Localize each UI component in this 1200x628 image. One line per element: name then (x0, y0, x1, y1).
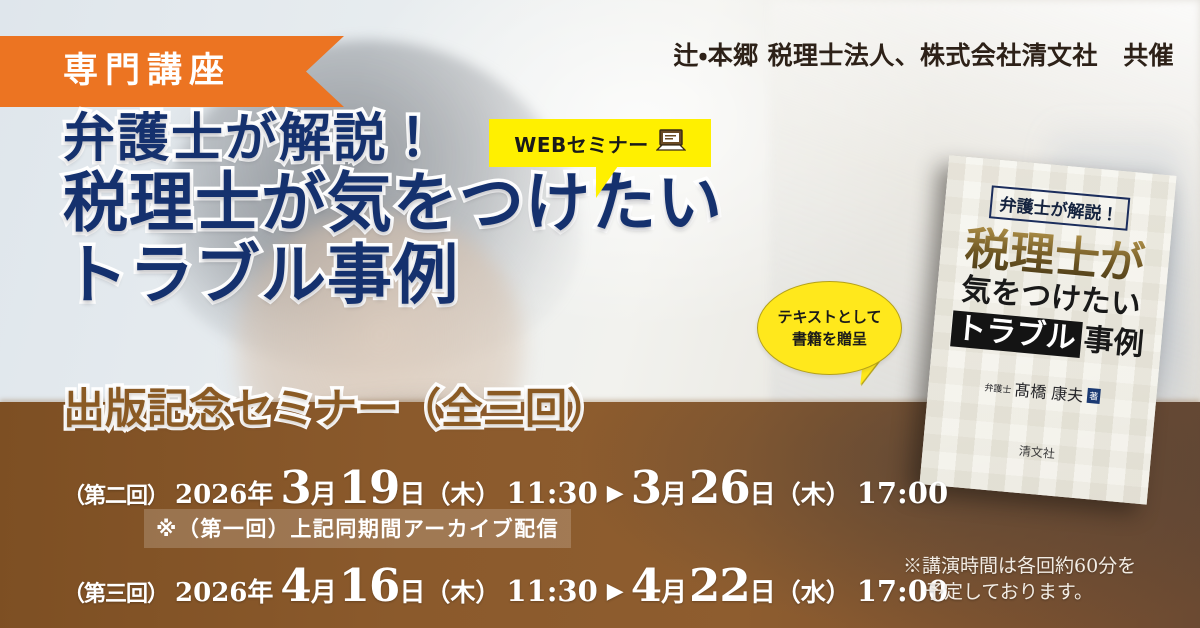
web-seminar-badge: WEBセミナー (489, 119, 711, 167)
session-2-end-month: 3 (631, 461, 661, 514)
session-2-start-day-unit: 日 (399, 480, 425, 510)
session-3-end-month-unit: 月 (661, 578, 687, 608)
session-2-end-time: 17:00 (857, 476, 948, 510)
session-3-start-month: 4 (280, 559, 310, 612)
session-2-start-month: 3 (280, 461, 310, 514)
archive-note: ※（第一回）上記同期間アーカイブ配信 (144, 509, 571, 548)
book-author: 弁護士髙橋 康夫著 (944, 370, 1141, 412)
subtitle: 出版記念セミナー（全三回） (63, 375, 609, 436)
session-3-start-day-unit: 日 (399, 578, 425, 608)
headline-line-1: 弁護士が解説！ (63, 112, 863, 166)
session-date-row-3: （第三回）2026年4月16日（木）11:30▶4月22日（水）17:00 (63, 559, 948, 612)
book-cover-image: 弁護士が解説！ 税理士が 気をつけたい トラブル 事例 弁護士髙橋 康夫著 清文… (920, 155, 1177, 504)
session-2-start-month-unit: 月 (311, 480, 337, 510)
session-2-start-day: 19 (339, 461, 400, 514)
web-seminar-badge-tail (596, 166, 618, 198)
category-ribbon-label: 専門講座 (0, 54, 231, 89)
session-2-end-day-unit: 日 (750, 480, 776, 510)
gift-badge: テキストとして 書籍を贈呈 (757, 281, 902, 375)
host-organizations: 辻・本郷 税理士法人、株式会社清文社 共催 (673, 36, 1174, 72)
session-2-year: 2026年 (175, 480, 273, 510)
session-date-row-2: （第二回）2026年3月19日（木）11:30▶3月26日（木）17:00 (63, 461, 948, 514)
book-author-suffix: 著 (1087, 388, 1101, 404)
session-2-start-time: 11:30 (506, 476, 597, 510)
session-3-end-day: 22 (689, 559, 750, 612)
headline-line-2: 税理士が気をつけたい (63, 170, 863, 238)
session-2-arrow-icon: ▶ (607, 481, 624, 506)
session-2-start-weekday: （木） (425, 480, 500, 509)
duration-note-line-2: 予定しております。 (903, 579, 1136, 605)
book-kicker: 弁護士が解説！ (988, 185, 1129, 230)
book-author-name: 髙橋 康夫 (1014, 380, 1085, 405)
seminar-banner: 専門講座 辻・本郷 税理士法人、株式会社清文社 共催 弁護士が解説！ 税理士が気… (0, 0, 1200, 628)
session-3-end-weekday: （水） (776, 578, 851, 607)
session-3-year: 2026年 (175, 578, 273, 608)
session-3-start-time: 11:30 (506, 574, 597, 608)
session-2-end-weekday: （木） (776, 480, 851, 509)
session-3-start-day: 16 (339, 559, 400, 612)
book-title-tail: 事例 (1082, 323, 1145, 363)
session-3-arrow-icon: ▶ (607, 579, 624, 604)
gift-badge-line-1: テキストとして (777, 306, 881, 329)
session-2-end-month-unit: 月 (661, 480, 687, 510)
web-seminar-badge-label: WEBセミナー (514, 129, 648, 158)
page-title: 弁護士が解説！ 税理士が気をつけたい トラブル事例 (63, 112, 863, 309)
book-author-prefix: 弁護士 (984, 383, 1012, 395)
session-3-start-weekday: （木） (425, 578, 500, 607)
duration-note-line-1: ※講演時間は各回約60分を (903, 555, 1136, 577)
session-3-start-month-unit: 月 (311, 578, 337, 608)
session-3-end-day-unit: 日 (750, 578, 776, 608)
session-3-end-month: 4 (631, 559, 661, 612)
session-2-end-day: 26 (689, 461, 750, 514)
laptop-icon (656, 129, 686, 158)
duration-note: ※講演時間は各回約60分を 予定しております。 (903, 553, 1136, 605)
gift-badge-line-2: 書籍を贈呈 (792, 328, 867, 351)
headline-line-3: トラブル事例 (63, 242, 863, 310)
category-ribbon: 専門講座 (0, 36, 344, 107)
session-2-label: （第二回） (63, 483, 168, 509)
session-3-label: （第三回） (63, 581, 168, 607)
book-title-boxed: トラブル (950, 310, 1083, 358)
